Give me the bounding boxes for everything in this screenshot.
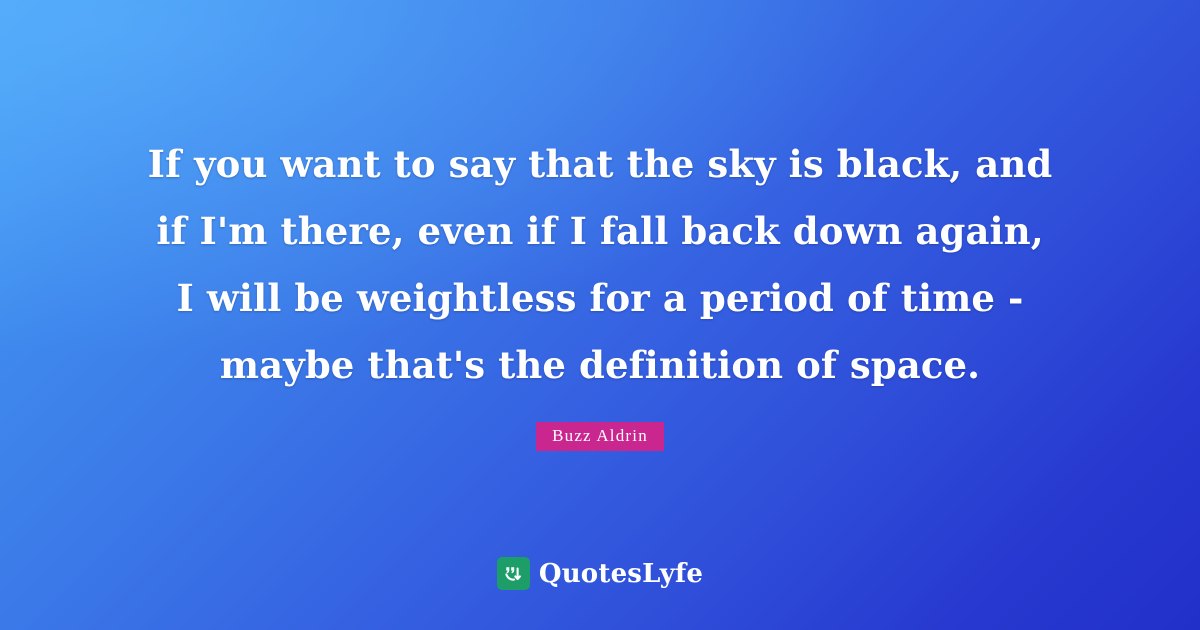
quote-smiley-icon	[497, 557, 530, 590]
brand-logo[interactable]: QuotesLyfe	[0, 557, 1200, 590]
quote-text: If you want to say that the sky is black…	[0, 131, 1200, 399]
quote-line-3: I will be weightless for a period of tim…	[0, 265, 1200, 332]
author-name-badge[interactable]: Buzz Aldrin	[536, 422, 664, 451]
brand-name: QuotesLyfe	[539, 559, 703, 589]
author-badge-container: Buzz Aldrin	[0, 422, 1200, 451]
quote-line-4: maybe that's the definition of space.	[0, 332, 1200, 399]
quote-line-1: If you want to say that the sky is black…	[0, 131, 1200, 198]
quote-poster: If you want to say that the sky is black…	[0, 0, 1200, 630]
quote-line-2: if I'm there, even if I fall back down a…	[0, 198, 1200, 265]
